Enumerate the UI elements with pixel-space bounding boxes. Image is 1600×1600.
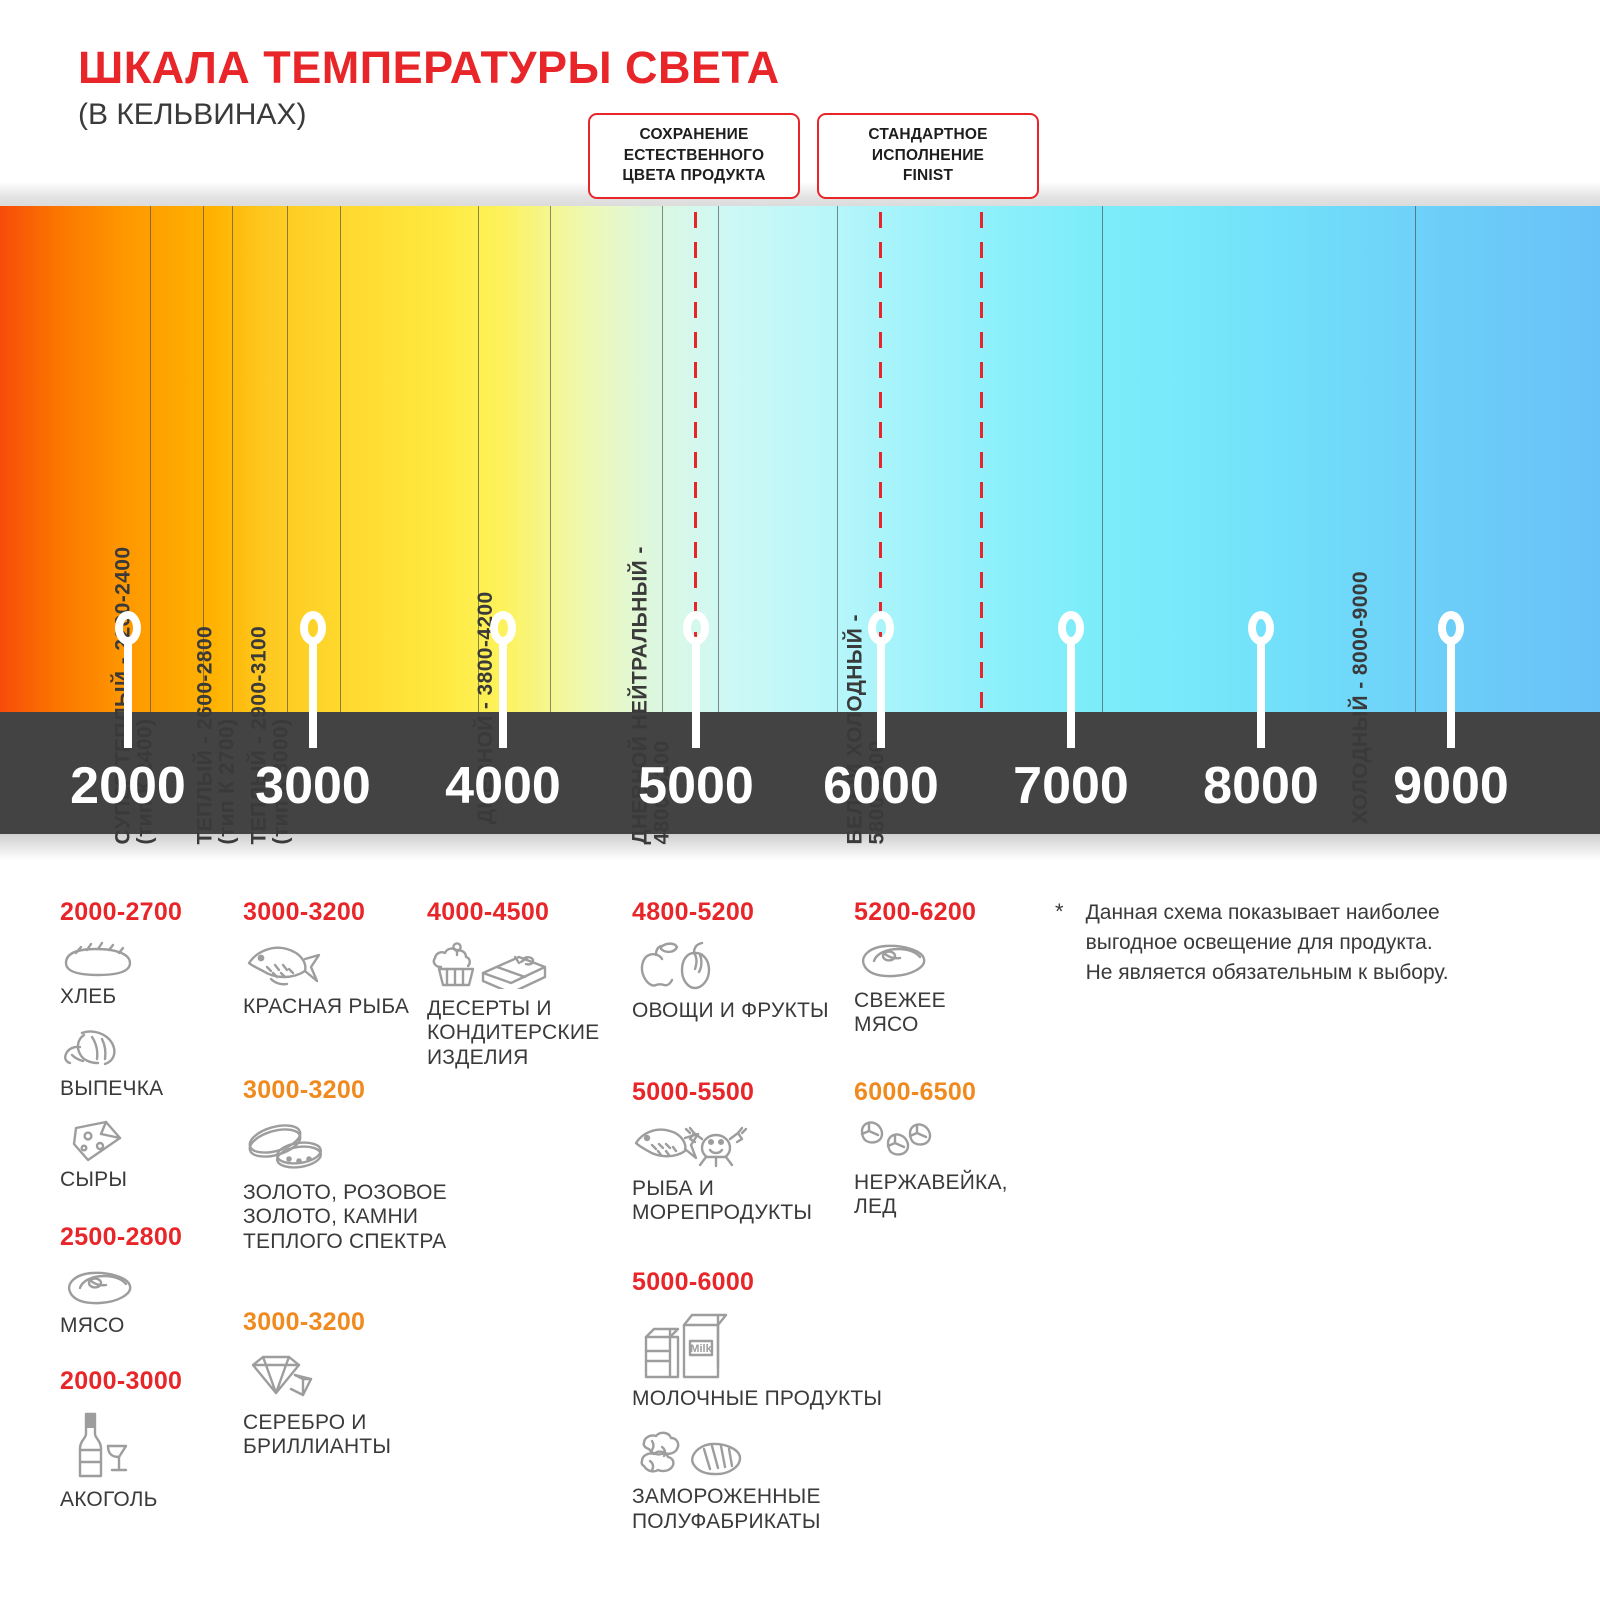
tick-label-9000: 9000 [1393,756,1509,816]
rings-icon [243,1119,327,1173]
scale-divider [837,206,838,712]
legend-item-label: СЕРЕБРО И БРИЛЛИАНТЫ [243,1411,453,1460]
marker-stem [124,639,132,748]
callout-line: FINIST [831,166,1025,187]
footnote-text: Данная схема показывает наиболее выгодно… [1086,898,1449,987]
legend-range: 4800-5200 [632,898,832,927]
legend-item-fresh-meat: СВЕЖЕЕ МЯСО [854,939,1014,1038]
callout-natural-color: СОХРАНЕНИЕ ЕСТЕСТВЕННОГО ЦВЕТА ПРОДУКТА [588,113,800,199]
legend-item-steel-ice: НЕРЖАВЕЙКА, ЛЕД [854,1119,1054,1220]
legend-item-label: АКОГОЛЬ [60,1488,182,1512]
band-label-line1: ТЕПЛЫЙ - 2600-2800 [195,626,217,845]
callout-line: ЕСТЕСТВЕННОГО [602,146,786,167]
callout-line: ИСПОЛНЕНИЕ [831,146,1025,167]
croissant-icon [60,1025,136,1073]
legend-item-label: ЗОЛОТО, РОЗОВОЕ ЗОЛОТО, КАМНИ ТЕПЛОГО СП… [243,1181,493,1254]
scale-divider [718,206,719,712]
band-label-line1: ХОЛОДНЫЙ - 8000-9000 [1349,571,1373,824]
legend-item-bread: ХЛЕБ [60,941,182,1009]
legend-item-label: ЗАМОРОЖЕННЫЕ ПОЛУФАБРИКАТЫ [632,1485,862,1534]
apple-pepper-icon [632,939,722,991]
legend-group-3000-3200-silver: 3000-3200 СЕРЕБРО И БРИЛЛИАНТЫ [243,1308,453,1460]
frozen-food-icon [632,1429,742,1479]
band-label-cold: ХОЛОДНЫЙ - 8000-9000 [1349,571,1373,824]
page-subtitle: (В КЕЛЬВИНАХ) [78,98,306,132]
legend-item-seafood: РЫБА И МОРЕПРОДУКТЫ [632,1119,854,1226]
diamond-icon [243,1351,319,1403]
legend-group-2000-3000: 2000-3000 АКОГОЛЬ [60,1367,182,1512]
band-label-line2: (тип К 2700) [217,626,239,845]
footnote-line: выгодное освещение для продукта. [1086,928,1449,958]
header: ШКАЛА ТЕМПЕРАТУРЫ СВЕТА (В КЕЛЬВИНАХ) [0,0,1600,200]
marker-stem [1257,639,1265,748]
marker-stem [692,639,700,748]
footnote: * Данная схема показывает наиболее выгод… [1055,898,1565,987]
svg-text:Milk: Milk [690,1343,712,1355]
legend-range: 3000-3200 [243,1308,453,1337]
fish-crab-icon [632,1119,752,1169]
footnote-star: * [1055,898,1064,987]
milk-carton-icon: Milk [632,1311,736,1381]
legend-group-5200-6200: 5200-6200 СВЕЖЕЕ МЯСО [854,898,1014,1038]
legend-group-4800-5200: 4800-5200 ОВОЩИ И ФРУКТЫ [632,898,832,1023]
scale-divider [550,206,551,712]
tick-label-6000: 6000 [823,756,939,816]
tick-label-2000: 2000 [70,756,186,816]
callout-line: СОХРАНЕНИЕ [602,125,786,146]
footnote-line: Данная схема показывает наиболее [1086,898,1449,928]
legend-group-2000-2700: 2000-2700 ХЛЕБ ВЫПЕЧКА [60,898,182,1192]
legend-item-cheese: СЫРЫ [60,1118,182,1192]
legend-item-red-fish: КРАСНАЯ РЫБА [243,941,423,1019]
marker-stem [309,639,317,748]
legend-group-5000-6000: 5000-6000 Milk МОЛОЧНЫЕ ПРОДУКТЫ [632,1268,882,1534]
tick-label-3000: 3000 [255,756,371,816]
tick-label-8000: 8000 [1203,756,1319,816]
scale-top-shadow [0,182,1600,206]
marker-stem [877,639,885,748]
marker-stem [1067,639,1075,748]
fish-icon [243,941,323,989]
cupcake-cake-icon [427,939,555,989]
legend-group-2500-2800: 2500-2800 МЯСО [60,1223,182,1338]
legend-range: 3000-3200 [243,1076,493,1105]
legend-item-label: НЕРЖАВЕЙКА, ЛЕД [854,1171,1054,1220]
legend-range: 6000-6500 [854,1078,1054,1107]
legend-item-label: ВЫПЕЧКА [60,1077,182,1101]
legend-group-5000-5500: 5000-5500 РЫБА И МОРЕПРОДУКТЫ [632,1078,854,1226]
marker-stem [499,639,507,748]
legend-item-label: СЫРЫ [60,1168,182,1192]
scale-divider [1102,206,1103,712]
legend-group-3000-3200-gold: 3000-3200 ЗОЛОТО, РОЗОВОЕ ЗОЛОТО, КАМНИ … [243,1076,493,1254]
legend-item-label: МЯСО [60,1314,182,1338]
legend-range: 2500-2800 [60,1223,182,1252]
cheese-icon [60,1118,136,1164]
legend-item-desserts: ДЕСЕРТЫ И КОНДИТЕРСКИЕ ИЗДЕЛИЯ [427,939,637,1070]
legend-range: 3000-3200 [243,898,423,927]
legend-group-6000-6500: 6000-6500 НЕРЖАВЕЙКА, ЛЕД [854,1078,1054,1220]
tick-label-4000: 4000 [445,756,561,816]
tick-label-7000: 7000 [1013,756,1129,816]
legend-item-label: РЫБА И МОРЕПРОДУКТЫ [632,1177,854,1226]
legend-range: 2000-3000 [60,1367,182,1396]
legend-item-pastry: ВЫПЕЧКА [60,1025,182,1101]
legend-item-silver: СЕРЕБРО И БРИЛЛИАНТЫ [243,1351,453,1460]
legend-range: 4000-4500 [427,898,637,927]
bottle-glass-icon [60,1410,136,1484]
footnote-line: Не является обязательным к выбору. [1086,958,1449,988]
temperature-scale: СУПЕР ТЕПЛЫЙ - 2200-2400 (тип К 2400) ТЕ… [0,182,1600,862]
legend-item-frozen: ЗАМОРОЖЕННЫЕ ПОЛУФАБРИКАТЫ [632,1429,882,1534]
callout-line: ЦВЕТА ПРОДУКТА [602,166,786,187]
dashline-finist-end [980,182,983,712]
fresh-meat-icon [854,939,934,983]
callout-standard-finist: СТАНДАРТНОЕ ИСПОЛНЕНИЕ FINIST [817,113,1039,199]
legend: 2000-2700 ХЛЕБ ВЫПЕЧКА [0,880,1600,1600]
tick-label-5000: 5000 [638,756,754,816]
marker-stem [1447,639,1455,748]
legend-item-meat: МЯСО [60,1266,182,1338]
legend-item-label: МОЛОЧНЫЕ ПРОДУКТЫ [632,1387,882,1411]
scale-divider [1415,206,1416,712]
callout-line: СТАНДАРТНОЕ [831,125,1025,146]
legend-item-label: ДЕСЕРТЫ И КОНДИТЕРСКИЕ ИЗДЕЛИЯ [427,997,637,1070]
scale-divider [340,206,341,712]
legend-group-3000-3200-fish: 3000-3200 КРАСНАЯ РЫБА [243,898,423,1019]
ice-cubes-icon [854,1119,940,1165]
scale-bottom-shadow [0,834,1600,860]
legend-item-label: ХЛЕБ [60,985,182,1009]
legend-item-dairy: Milk МОЛОЧНЫЕ ПРОДУКТЫ [632,1311,882,1411]
steak-icon [60,1266,138,1310]
legend-item-label: СВЕЖЕЕ МЯСО [854,989,1014,1038]
legend-range: 2000-2700 [60,898,182,927]
page-title: ШКАЛА ТЕМПЕРАТУРЫ СВЕТА [78,42,780,94]
legend-range: 5000-6000 [632,1268,882,1297]
legend-item-gold: ЗОЛОТО, РОЗОВОЕ ЗОЛОТО, КАМНИ ТЕПЛОГО СП… [243,1119,493,1254]
legend-item-label: КРАСНАЯ РЫБА [243,995,423,1019]
legend-item-vegetables: ОВОЩИ И ФРУКТЫ [632,939,832,1023]
legend-item-label: ОВОЩИ И ФРУКТЫ [632,999,832,1023]
legend-group-4000-4500: 4000-4500 ДЕСЕРТЫ И КОНДИТЕРСКИЕ ИЗДЕЛИЯ [427,898,637,1070]
legend-range: 5200-6200 [854,898,1014,927]
legend-range: 5000-5500 [632,1078,854,1107]
band-label-warm-2700: ТЕПЛЫЙ - 2600-2800 (тип К 2700) [195,626,240,845]
bread-icon [60,941,136,981]
legend-item-alcohol: АКОГОЛЬ [60,1410,182,1512]
